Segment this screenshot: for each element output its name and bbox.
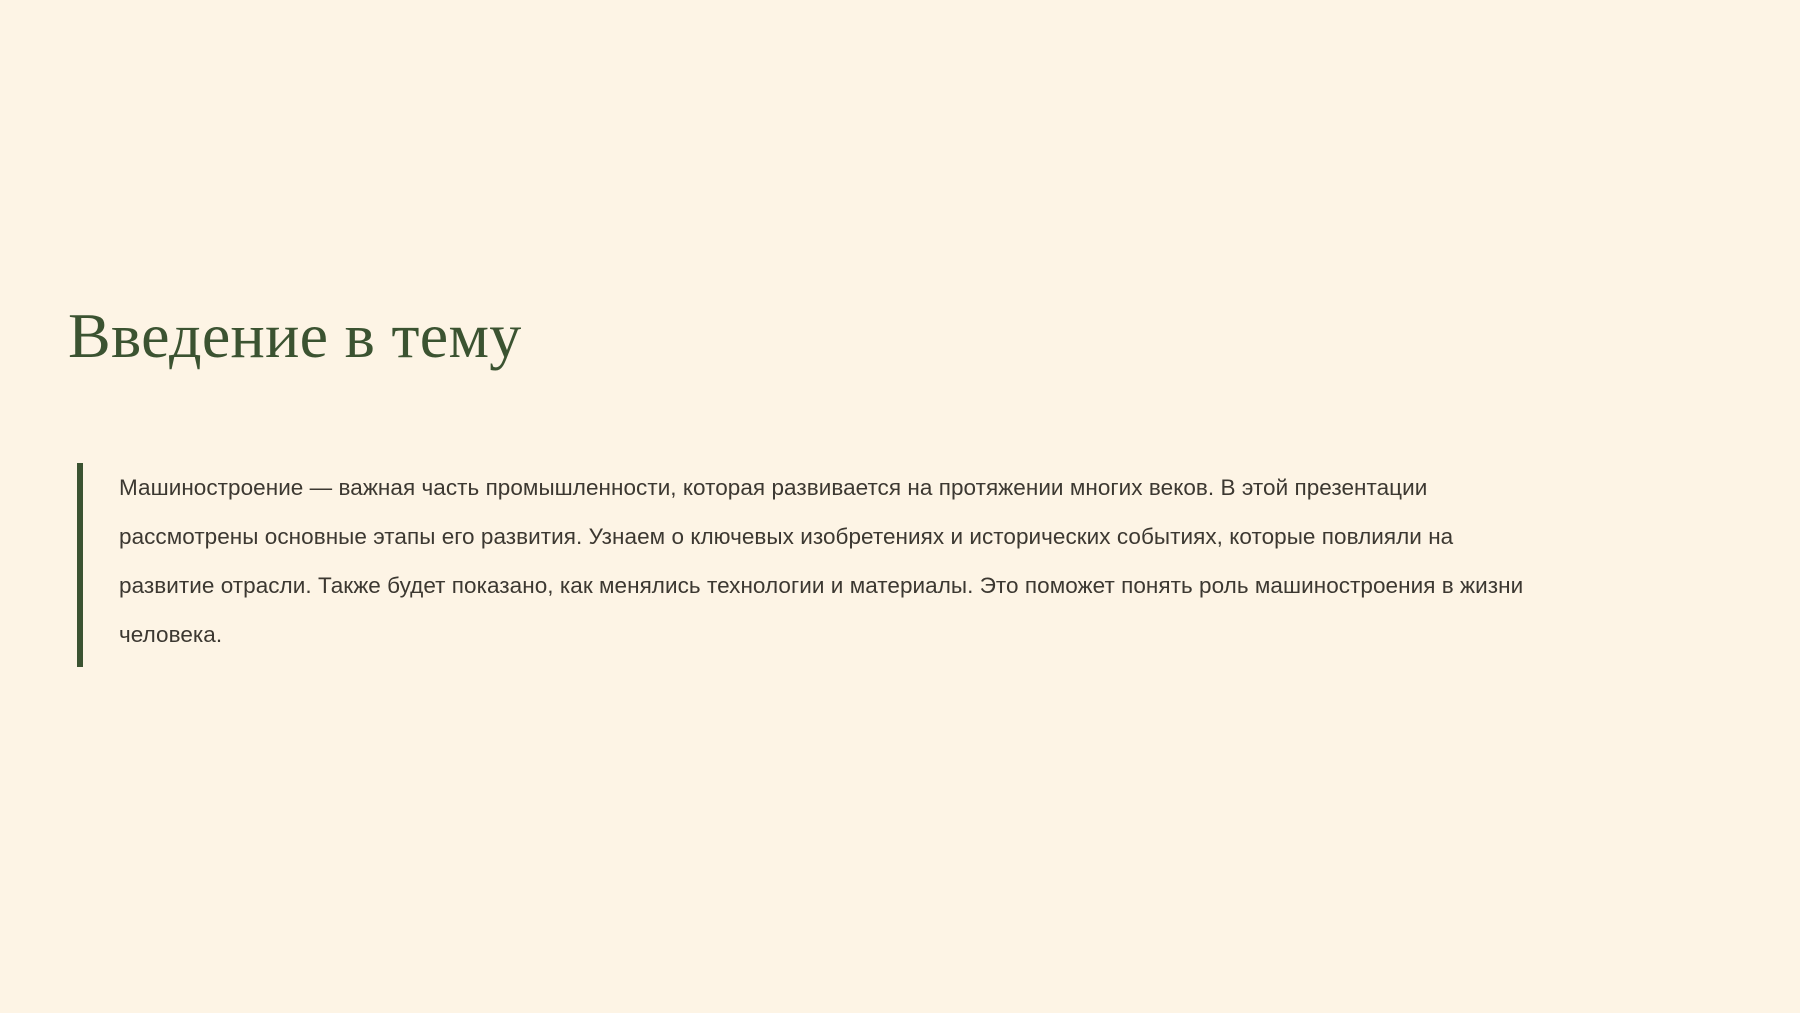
body-quote-block: Машиностроение — важная часть промышленн…	[77, 463, 1537, 667]
page-title: Введение в тему	[68, 300, 1568, 372]
body-paragraph: Машиностроение — важная часть промышленн…	[83, 463, 1537, 667]
presentation-slide: Введение в тему Машиностроение — важная …	[0, 0, 1800, 1013]
